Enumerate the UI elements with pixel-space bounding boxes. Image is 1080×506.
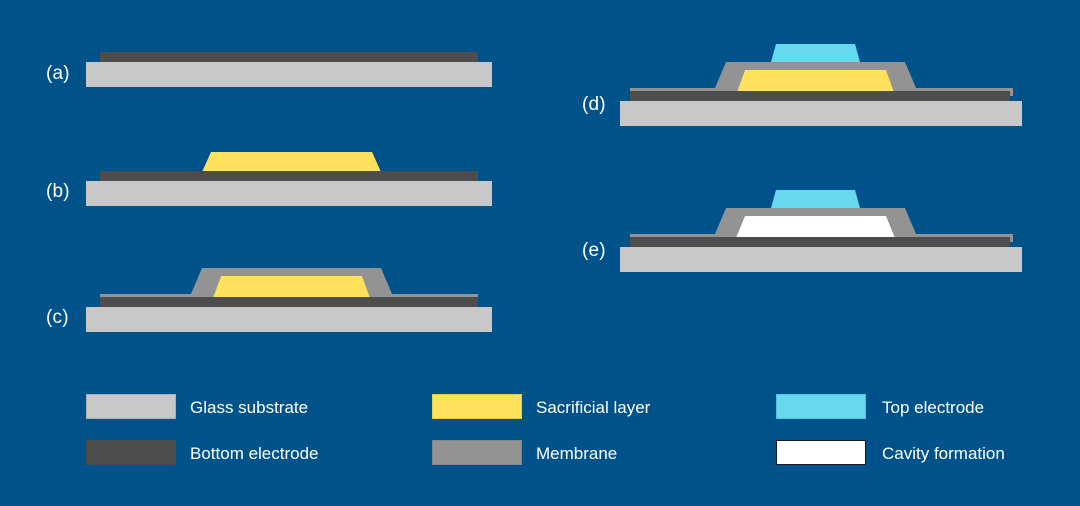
panel-a-bottom-electrode [100,52,478,62]
panel-a-graphic [86,52,492,87]
panel-d-bottom-electrode [630,91,1010,101]
legend-swatch-bottom-electrode [86,440,176,465]
panel-e-graphic [620,190,1022,272]
legend-label-glass-substrate: Glass substrate [190,399,308,416]
legend-label-sacrificial-layer: Sacrificial layer [536,399,650,416]
panel-e-bottom-electrode [630,237,1010,247]
panel-a-glass-substrate [86,62,492,87]
legend-label-top-electrode: Top electrode [882,399,984,416]
panel-label-d: (d) [582,95,606,114]
legend-swatch-glass-substrate [86,394,176,419]
legend-swatch-top-electrode [776,394,866,419]
legend-label-membrane: Membrane [536,445,617,462]
legend-label-bottom-electrode: Bottom electrode [190,445,319,462]
panel-d-glass-substrate [620,101,1022,126]
panel-label-a: (a) [46,64,70,83]
panel-e-top-electrode [771,190,860,208]
panel-e-glass-substrate [620,247,1022,272]
panel-d-graphic [620,44,1022,126]
panel-c-glass-substrate [86,307,492,332]
panel-e-cavity-formation [736,216,895,238]
panel-b-glass-substrate [86,181,492,206]
panel-label-b: (b) [46,182,70,201]
legend-swatch-membrane [432,440,522,465]
legend-swatch-sacrificial-layer [432,394,522,419]
panel-b-sacrificial-layer [202,152,381,172]
legend-label-cavity-formation: Cavity formation [882,445,1005,462]
panel-label-c: (c) [46,308,69,327]
panel-c-graphic [86,268,492,332]
process-flow-diagram [0,0,1080,506]
figure-root: (a) (b) (c) (d) (e) Glass substrate Bott… [0,0,1080,506]
panel-b-bottom-electrode [100,171,478,181]
panel-c-bottom-electrode [100,297,478,307]
panel-b-graphic [86,152,492,206]
panel-label-e: (e) [582,241,606,260]
legend-swatch-cavity-formation [776,440,866,465]
panel-d-top-electrode [771,44,860,62]
